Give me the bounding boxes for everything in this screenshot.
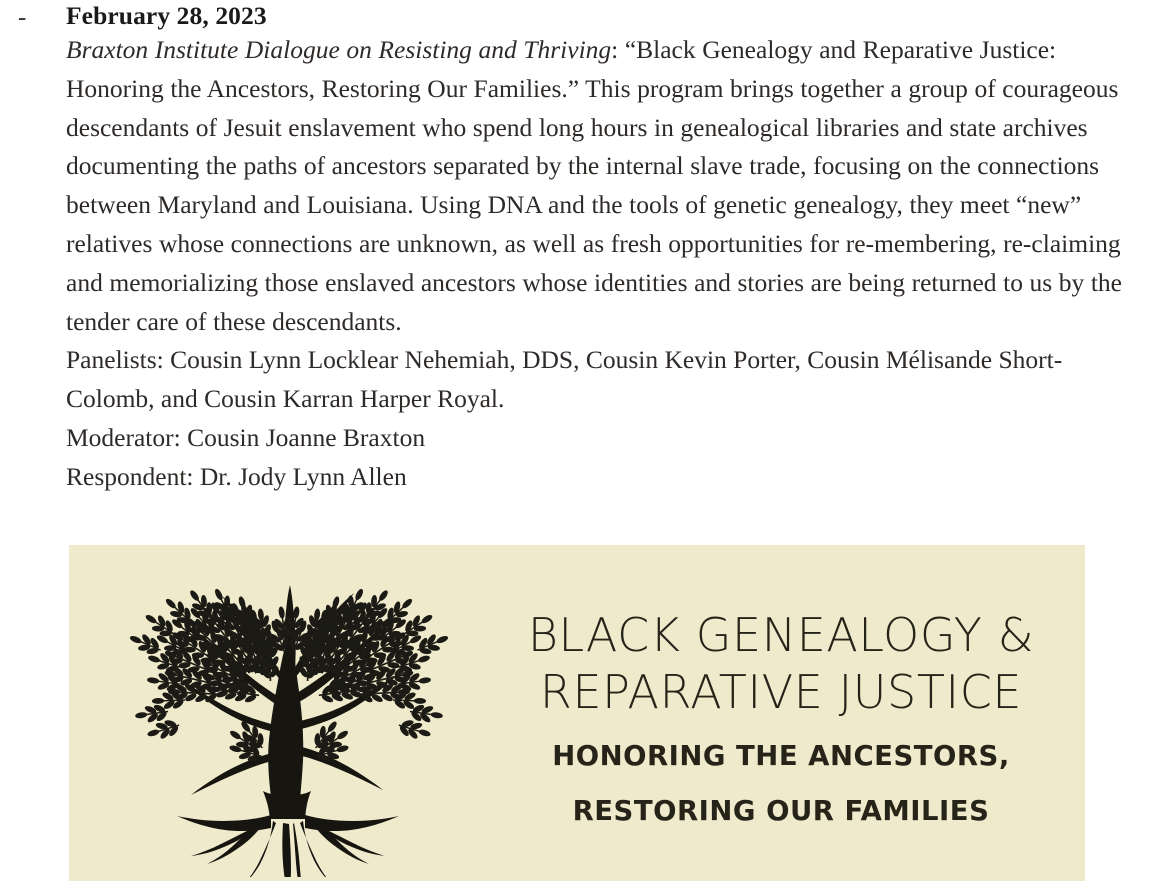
banner-subtitle-line-1: HONORING THE ANCESTORS, — [481, 721, 1081, 776]
banner-subtitle-line-2: RESTORING OUR FAMILIES — [481, 776, 1081, 831]
banner-headline-line-1: BLACK GENEALOGY & — [481, 607, 1081, 664]
document-page: - February 28, 2023 Braxton Institute Di… — [0, 0, 1151, 893]
list-bullet-dash: - — [18, 2, 34, 33]
event-description-paragraph: Braxton Institute Dialogue on Resisting … — [66, 31, 1146, 341]
event-date-heading: February 28, 2023 — [66, 0, 1151, 31]
event-description-text: : “Black Genealogy and Reparative Justic… — [66, 35, 1122, 336]
series-title-italic: Braxton Institute Dialogue on Resisting … — [66, 35, 611, 64]
moderator-line: Moderator: Cousin Joanne Braxton — [66, 419, 1146, 458]
banner-text-block: BLACK GENEALOGY & REPARATIVE JUSTICE HON… — [481, 607, 1081, 831]
respondent-line: Respondent: Dr. Jody Lynn Allen — [66, 458, 1146, 497]
event-entry-body: February 28, 2023 Braxton Institute Dial… — [66, 0, 1151, 497]
banner-headline-line-2: REPARATIVE JUSTICE — [481, 664, 1081, 721]
heart-shaped-tree-with-roots-icon — [121, 547, 461, 877]
event-promo-banner: BLACK GENEALOGY & REPARATIVE JUSTICE HON… — [69, 545, 1085, 881]
panelists-line: Panelists: Cousin Lynn Locklear Nehemiah… — [66, 341, 1146, 419]
